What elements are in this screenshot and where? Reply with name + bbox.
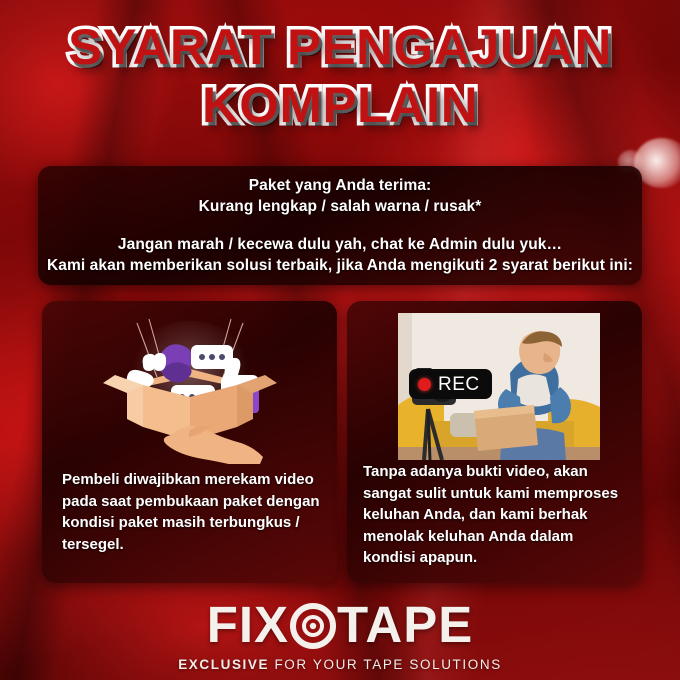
card-body-left: Pembeli diwajibkan merekam video pada sa… bbox=[62, 469, 323, 555]
subtitle-line-2: Kurang lengkap / salah warna / rusak* bbox=[199, 196, 482, 217]
rec-badge-label: REC bbox=[438, 375, 480, 394]
requirement-card-video-proof: REC Tanpa adanya bukti video, akan sanga… bbox=[347, 301, 642, 583]
logo-text-fix: FIX bbox=[207, 599, 289, 651]
card-text-record-video: Pembeli diwajibkan merekam video pada sa… bbox=[62, 469, 323, 555]
card-body-right: Tanpa adanya bukti video, akan sangat su… bbox=[363, 461, 628, 569]
card-text-video-proof: Tanpa adanya bukti video, akan sangat su… bbox=[363, 461, 628, 569]
subtitle-panel: Paket yang Anda terima: Kurang lengkap /… bbox=[38, 166, 642, 285]
tagline-bold: EXCLUSIVE bbox=[178, 657, 269, 672]
target-circle-o-icon bbox=[290, 603, 336, 649]
open-box-unboxing-illustration bbox=[85, 309, 295, 464]
subtitle-line-3: Jangan marah / kecewa dulu yah, chat ke … bbox=[47, 234, 633, 255]
brand-footer: FIX TAPE EXCLUSIVE FOR YOUR TAPE SOLUTIO… bbox=[0, 599, 680, 672]
brand-tagline: EXCLUSIVE FOR YOUR TAPE SOLUTIONS bbox=[0, 657, 680, 672]
complaint-requirements-poster: SYARAT PENGAJUAN KOMPLAIN Paket yang And… bbox=[0, 0, 680, 680]
title-line-2: KOMPLAIN bbox=[0, 76, 680, 134]
logo-text-tape: TAPE bbox=[337, 599, 473, 651]
rec-badge: REC bbox=[409, 369, 492, 399]
page-title: SYARAT PENGAJUAN KOMPLAIN bbox=[0, 18, 680, 134]
subtitle-line-4: Kami akan memberikan solusi terbaik, jik… bbox=[47, 255, 633, 276]
tagline-rest: FOR YOUR TAPE SOLUTIONS bbox=[269, 657, 502, 672]
subtitle-group-advice: Jangan marah / kecewa dulu yah, chat ke … bbox=[47, 234, 633, 276]
brand-logo: FIX TAPE bbox=[0, 599, 680, 651]
requirement-card-record-video: Pembeli diwajibkan merekam video pada sa… bbox=[42, 301, 337, 583]
subtitle-line-1: Paket yang Anda terima: bbox=[199, 175, 482, 196]
card-media-photo: REC bbox=[347, 301, 642, 461]
subtitle-group-package: Paket yang Anda terima: Kurang lengkap /… bbox=[199, 175, 482, 217]
record-dot-icon bbox=[418, 378, 431, 391]
title-line-1: SYARAT PENGAJUAN bbox=[0, 18, 680, 76]
card-media-illustration bbox=[42, 301, 337, 461]
